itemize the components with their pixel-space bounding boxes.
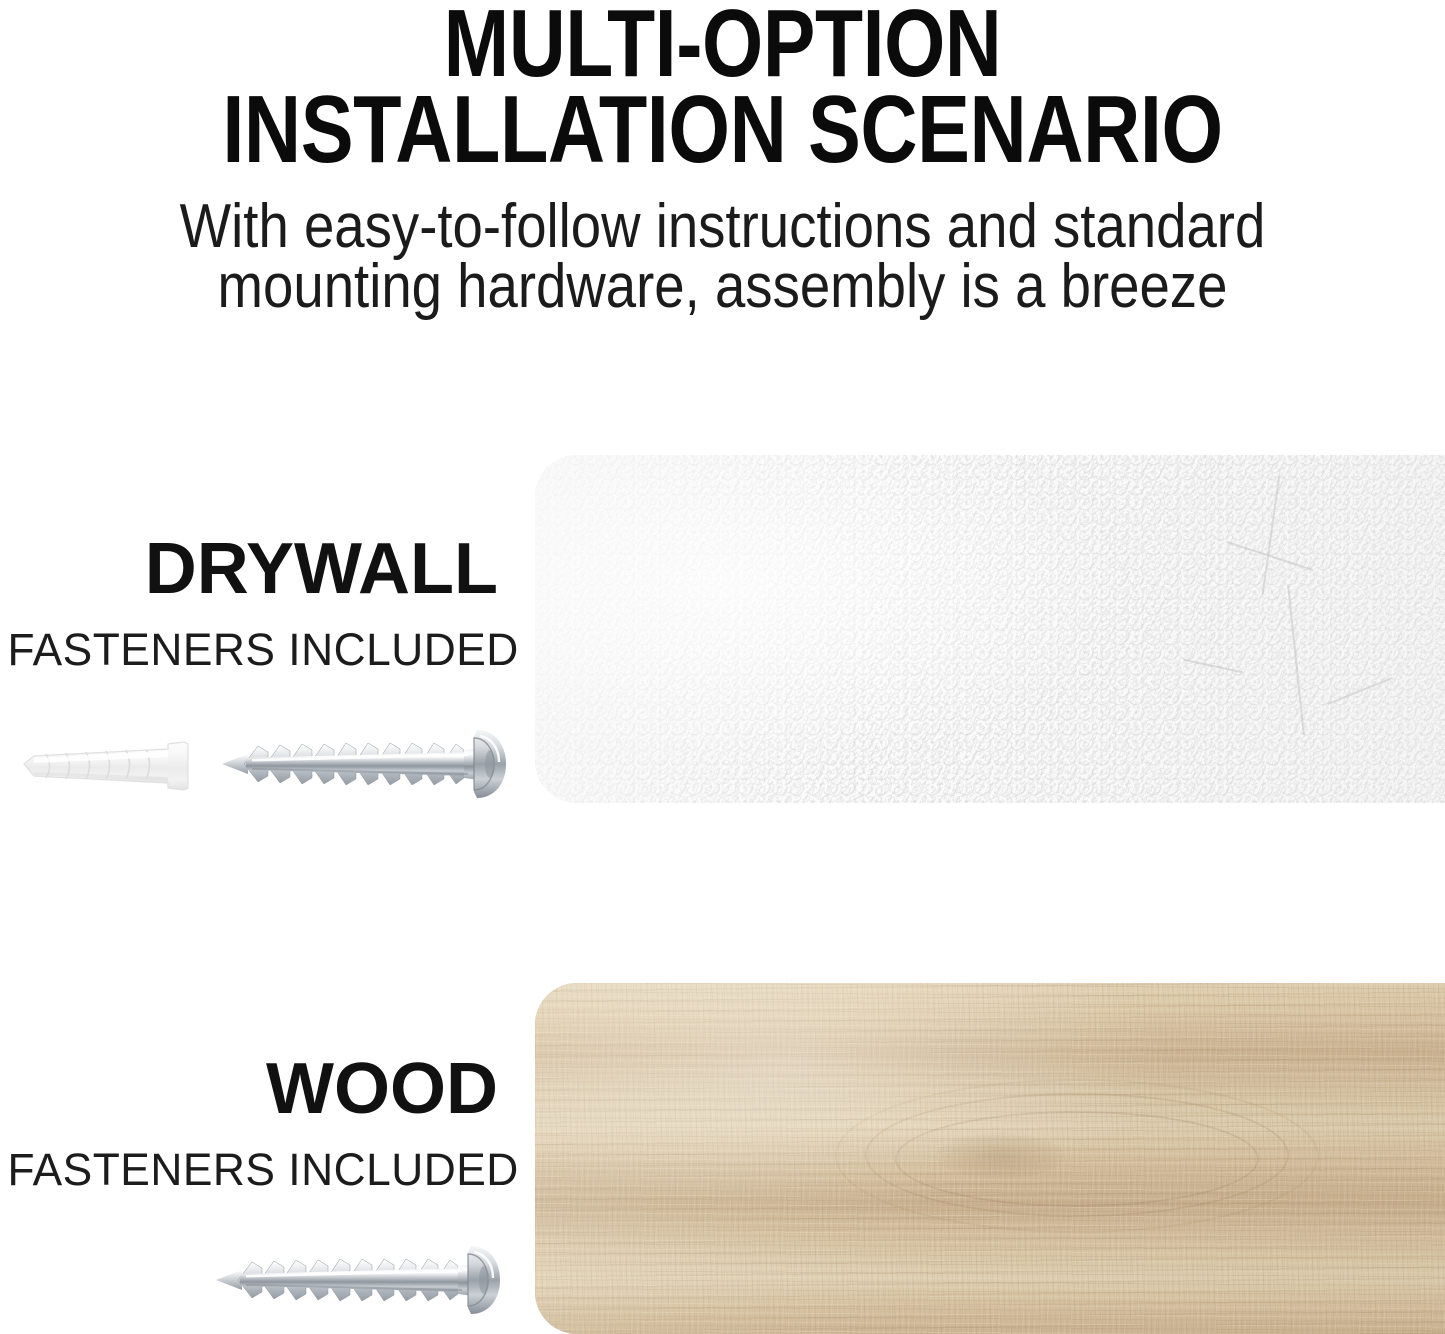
infographic-page: MULTI-OPTION INSTALLATION SCENARIO With …: [0, 0, 1445, 1334]
wood-screw-icon: [218, 722, 508, 806]
plastic-wall-anchor-icon: [18, 738, 196, 794]
wood-label-block: WOOD FASTENERS INCLUDED: [0, 1053, 498, 1192]
drywall-shading-layer: [535, 455, 1445, 803]
drywall-heading: DRYWALL: [0, 533, 498, 605]
page-title-line-2: INSTALLATION SCENARIO: [126, 82, 1318, 178]
wood-hardware-row: [0, 1238, 510, 1322]
drywall-label-block: DRYWALL FASTENERS INCLUDED: [0, 533, 498, 672]
wood-grain-panel: [535, 983, 1445, 1334]
drywall-subheading: FASTENERS INCLUDED: [7, 627, 498, 672]
page-subtitle-line-1: With easy-to-follow instructions and sta…: [87, 196, 1359, 258]
wood-subheading: FASTENERS INCLUDED: [7, 1147, 498, 1192]
wood-heading: WOOD: [0, 1053, 498, 1125]
drywall-texture-panel: [535, 455, 1445, 803]
drywall-hardware-row: [0, 722, 510, 806]
page-subtitle-line-2: mounting hardware, assembly is a breeze: [87, 256, 1359, 318]
wood-sheen-layer: [535, 983, 1445, 1334]
wood-screw-icon: [212, 1238, 502, 1322]
